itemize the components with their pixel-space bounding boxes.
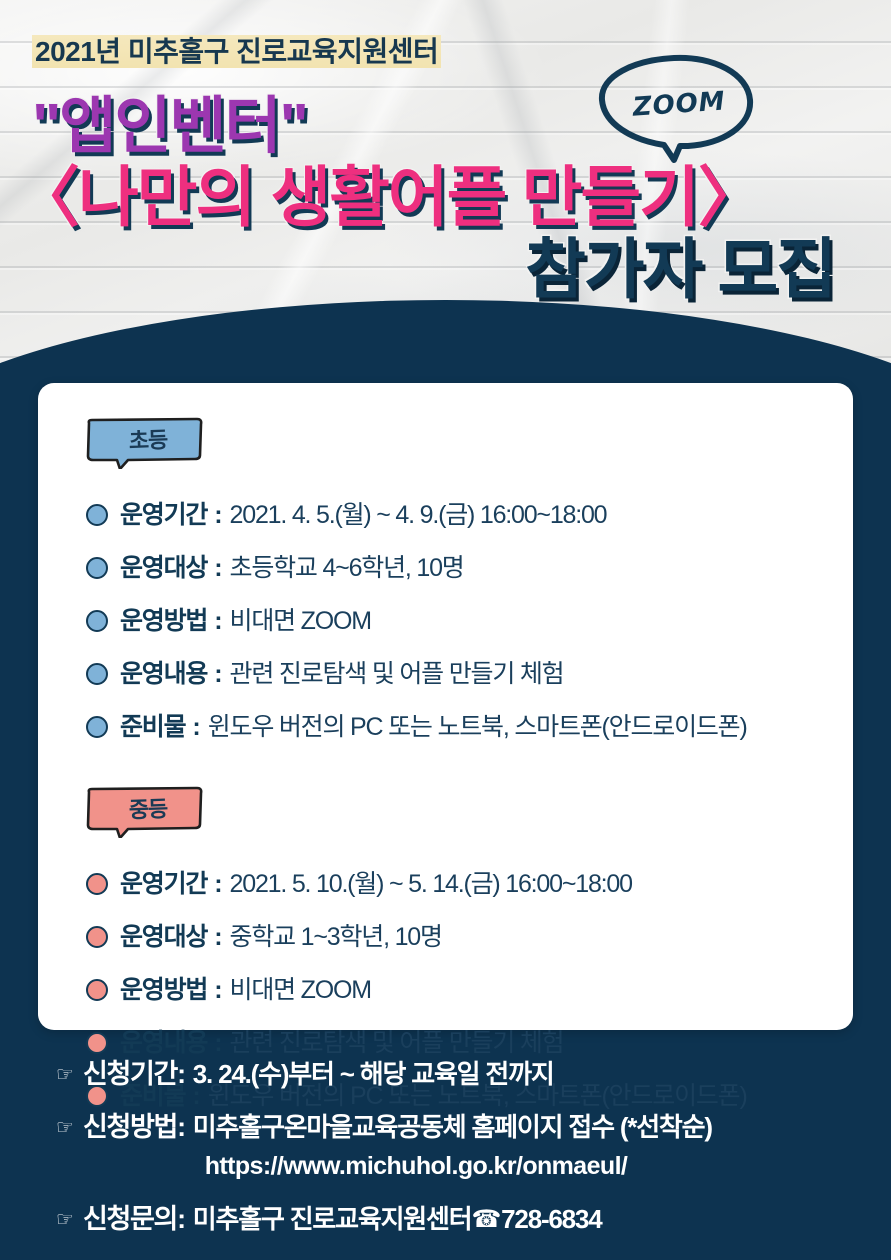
footer-value: 3. 24.(수)부터 ~ 해당 교육일 전까지: [193, 1054, 554, 1091]
row-label: 준비물: [120, 707, 185, 743]
row-colon: :: [214, 501, 222, 530]
application-url[interactable]: https://www.michuhol.go.kr/onmaeul/: [56, 1152, 746, 1181]
footer-row-application-period: ☞ 신청기간: 3. 24.(수)부터 ~ 해당 교육일 전까지: [56, 1052, 891, 1091]
footer-value: 미추홀구온마을교육공동체 홈페이지 접수 (*선착순): [193, 1107, 712, 1144]
bullet-circle-icon: [86, 716, 108, 738]
footer-label: 신청방법:: [83, 1105, 185, 1144]
bullet-circle-icon: [86, 1032, 108, 1054]
pointing-hand-icon: ☞: [56, 1115, 74, 1140]
row-colon: :: [214, 976, 222, 1005]
footer-row-application-method: ☞ 신청방법: 미추홀구온마을교육공동체 홈페이지 접수 (*선착순): [56, 1105, 891, 1144]
row-value: 관련 진로탐색 및 어플 만들기 체험: [230, 654, 564, 690]
poster-root: 2021년 미추홀구 진로교육지원센터 ZOOM "앱인벤터" 〈나만의 생활어…: [0, 0, 891, 1260]
title-line-2: 〈나만의 생활어플 만들기〉: [14, 164, 891, 230]
row-colon: :: [192, 713, 200, 742]
title-line-3: 참가자 모집: [0, 236, 891, 302]
pointing-hand-icon: ☞: [56, 1062, 74, 1087]
row-value: 2021. 5. 10.(월) ~ 5. 14.(금) 16:00~18:00: [230, 864, 632, 900]
info-row: 운영대상 : 초등학교 4~6학년, 10명: [86, 548, 827, 584]
bullet-circle-icon: [86, 663, 108, 685]
bullet-circle-icon: [86, 873, 108, 895]
section-tag-elementary: 초등: [84, 417, 206, 469]
section-tag-label-elementary: 초등: [83, 415, 206, 463]
pointing-hand-icon: ☞: [56, 1207, 74, 1232]
info-card: 초등 운영기간 : 2021. 4. 5.(월) ~ 4. 9.(금) 16:0…: [38, 383, 853, 1030]
row-colon: :: [214, 554, 222, 583]
phone-number: 728-6834: [501, 1204, 601, 1235]
zoom-speech-bubble: ZOOM: [588, 52, 758, 164]
row-colon: :: [214, 923, 222, 952]
row-value: 2021. 4. 5.(월) ~ 4. 9.(금) 16:00~18:00: [230, 495, 607, 531]
info-row: 준비물 : 윈도우 버전의 PC 또는 노트북, 스마트폰(안드로이드폰): [86, 707, 827, 743]
row-label: 운영내용: [120, 654, 207, 690]
kicker-label: 2021년 미추홀구 진로교육지원센터: [32, 35, 441, 68]
info-row: 운영내용 : 관련 진로탐색 및 어플 만들기 체험: [86, 654, 827, 690]
row-value: 초등학교 4~6학년, 10명: [230, 548, 464, 584]
row-label: 운영기간: [120, 495, 207, 531]
section-tag-label-middle-school: 중등: [83, 784, 206, 832]
row-list-elementary: 운영기간 : 2021. 4. 5.(월) ~ 4. 9.(금) 16:00~1…: [64, 495, 827, 743]
row-value: 중학교 1~3학년, 10명: [230, 917, 442, 953]
bullet-circle-icon: [86, 557, 108, 579]
row-label: 운영대상: [120, 548, 207, 584]
row-label: 운영방법: [120, 970, 207, 1006]
section-divider-space: [64, 760, 827, 786]
footer-row-inquiry: ☞ 신청문의: 미추홀구 진로교육지원센터 ☎ 728-6834: [56, 1197, 891, 1236]
zoom-bubble-label: ZOOM: [585, 46, 762, 158]
row-label: 운영방법: [120, 601, 207, 637]
footer-label: 신청기간:: [83, 1052, 185, 1091]
info-row: 운영기간 : 2021. 5. 10.(월) ~ 5. 14.(금) 16:00…: [86, 864, 827, 900]
row-label: 운영기간: [120, 864, 207, 900]
row-colon: :: [214, 607, 222, 636]
row-colon: :: [214, 660, 222, 689]
row-value: 윈도우 버전의 PC 또는 노트북, 스마트폰(안드로이드폰): [208, 707, 747, 743]
footer-application-info: ☞ 신청기간: 3. 24.(수)부터 ~ 해당 교육일 전까지 ☞ 신청방법:…: [0, 1052, 891, 1250]
bullet-circle-icon: [86, 504, 108, 526]
row-colon: :: [214, 870, 222, 899]
telephone-icon: ☎: [471, 1205, 500, 1234]
footer-value: 미추홀구 진로교육지원센터: [193, 1199, 472, 1236]
info-row: 운영방법 : 비대면 ZOOM: [86, 970, 827, 1006]
section-elementary: 초등 운영기간 : 2021. 4. 5.(월) ~ 4. 9.(금) 16:0…: [64, 417, 827, 743]
row-value: 비대면 ZOOM: [230, 601, 371, 637]
row-label: 운영대상: [120, 917, 207, 953]
row-value: 비대면 ZOOM: [230, 970, 371, 1006]
section-tag-middle-school: 중등: [84, 786, 206, 838]
kicker-text: 2021년 미추홀구 진로교육지원센터: [28, 28, 451, 74]
info-row: 운영방법 : 비대면 ZOOM: [86, 601, 827, 637]
info-row: 운영대상 : 중학교 1~3학년, 10명: [86, 917, 827, 953]
info-row: 운영기간 : 2021. 4. 5.(월) ~ 4. 9.(금) 16:00~1…: [86, 495, 827, 531]
title-line-1: "앱인벤터": [32, 96, 891, 158]
footer-label: 신청문의:: [83, 1197, 185, 1236]
bullet-circle-icon: [86, 926, 108, 948]
bullet-circle-icon: [86, 610, 108, 632]
bullet-circle-icon: [86, 979, 108, 1001]
